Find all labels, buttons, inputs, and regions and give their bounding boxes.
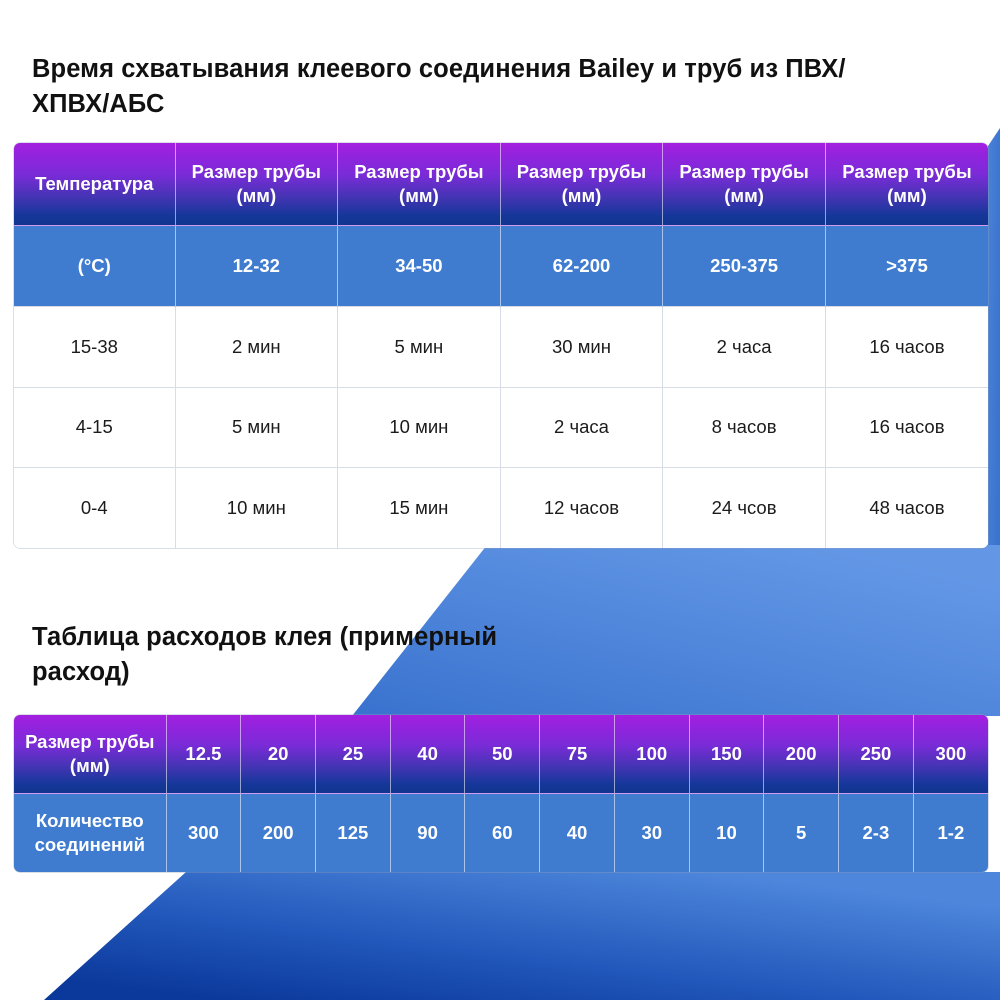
cell-time: 10 мин xyxy=(338,387,501,468)
table-row: 4-15 5 мин 10 мин 2 часа 8 часов 16 часо… xyxy=(14,387,988,468)
cell-time: 5 мин xyxy=(175,387,338,468)
subheader-cell-range-5: >375 xyxy=(825,226,988,307)
cell-joint-count: 200 xyxy=(241,794,316,873)
cell-joint-count: 40 xyxy=(540,794,615,873)
subheader-cell-range-1: 12-32 xyxy=(175,226,338,307)
header-cell-size: 250 xyxy=(839,715,914,794)
section-title-glue-usage: Таблица расходов клея (примерный расход) xyxy=(32,620,552,690)
header-cell-size: 20 xyxy=(241,715,316,794)
section-title-setting-time: Время схватывания клеевого соединения Ba… xyxy=(32,52,862,122)
cell-joint-count: 125 xyxy=(316,794,391,873)
cell-temp-range: 0-4 xyxy=(14,468,175,548)
header-cell-pipe-size-3: Размер трубы (мм) xyxy=(500,143,663,226)
header-cell-size: 100 xyxy=(614,715,689,794)
header-cell-temperature: Температура xyxy=(14,143,175,226)
glue-usage-table: Размер трубы (мм) 12.5 20 25 40 50 75 10… xyxy=(14,715,988,872)
infographic-page: Время схватывания клеевого соединения Ba… xyxy=(0,0,1000,1000)
table-row: 15-38 2 мин 5 мин 30 мин 2 часа 16 часов xyxy=(14,307,988,388)
header-cell-size: 12.5 xyxy=(166,715,241,794)
subheader-cell-range-3: 62-200 xyxy=(500,226,663,307)
cell-time: 30 мин xyxy=(500,307,663,388)
cell-joint-count: 30 xyxy=(614,794,689,873)
deco-shape-right-strip xyxy=(988,128,1000,560)
table-subheader-row: (°C) 12-32 34-50 62-200 250-375 >375 xyxy=(14,226,988,307)
header-cell-size: 75 xyxy=(540,715,615,794)
header-cell-size: 150 xyxy=(689,715,764,794)
header-cell-pipe-size-5: Размер трубы (мм) xyxy=(825,143,988,226)
cell-joint-count: 2-3 xyxy=(839,794,914,873)
subheader-cell-range-4: 250-375 xyxy=(663,226,826,307)
cell-joint-count: 60 xyxy=(465,794,540,873)
deco-shape-bottom-band xyxy=(44,872,1000,1000)
header-cell-size: 25 xyxy=(316,715,391,794)
header-cell-size: 40 xyxy=(390,715,465,794)
table-row: Количество соединений 300 200 125 90 60 … xyxy=(14,794,988,873)
table-header-row: Температура Размер трубы (мм) Размер тру… xyxy=(14,143,988,226)
cell-temp-range: 15-38 xyxy=(14,307,175,388)
cell-time: 16 часов xyxy=(825,387,988,468)
cell-time: 5 мин xyxy=(338,307,501,388)
cell-time: 12 часов xyxy=(500,468,663,548)
header-cell-pipe-size-1: Размер трубы (мм) xyxy=(175,143,338,226)
cell-joint-count: 5 xyxy=(764,794,839,873)
header-cell-size: 50 xyxy=(465,715,540,794)
cell-time: 2 часа xyxy=(500,387,663,468)
cell-joint-count: 1-2 xyxy=(913,794,988,873)
header-cell-pipe-size-2: Размер трубы (мм) xyxy=(338,143,501,226)
header-cell-pipe-size-label: Размер трубы (мм) xyxy=(14,715,166,794)
header-cell-pipe-size-4: Размер трубы (мм) xyxy=(663,143,826,226)
cell-time: 24 чсов xyxy=(663,468,826,548)
cell-temp-range: 4-15 xyxy=(14,387,175,468)
setting-time-table: Температура Размер трубы (мм) Размер тру… xyxy=(14,143,988,548)
cell-time: 2 мин xyxy=(175,307,338,388)
header-cell-size: 200 xyxy=(764,715,839,794)
table-header-row: Размер трубы (мм) 12.5 20 25 40 50 75 10… xyxy=(14,715,988,794)
cell-time: 15 мин xyxy=(338,468,501,548)
cell-joint-count: 10 xyxy=(689,794,764,873)
table-row: 0-4 10 мин 15 мин 12 часов 24 чсов 48 ча… xyxy=(14,468,988,548)
cell-joint-count: 300 xyxy=(166,794,241,873)
cell-time: 16 часов xyxy=(825,307,988,388)
subheader-cell-celsius: (°C) xyxy=(14,226,175,307)
subheader-cell-range-2: 34-50 xyxy=(338,226,501,307)
cell-time: 10 мин xyxy=(175,468,338,548)
header-cell-size: 300 xyxy=(913,715,988,794)
cell-time: 8 часов xyxy=(663,387,826,468)
cell-time: 48 часов xyxy=(825,468,988,548)
row-label-joint-count: Количество соединений xyxy=(14,794,166,873)
cell-time: 2 часа xyxy=(663,307,826,388)
cell-joint-count: 90 xyxy=(390,794,465,873)
